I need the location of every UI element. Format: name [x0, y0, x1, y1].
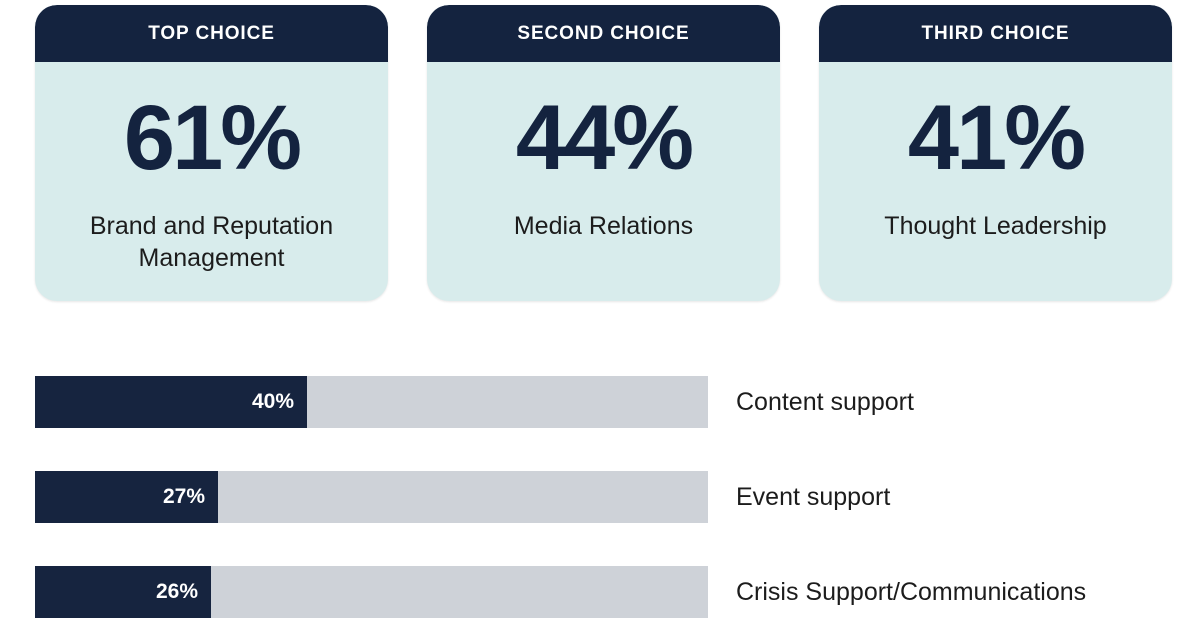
- bar-row: 27% Event support: [35, 471, 1175, 523]
- bar-category-label: Content support: [736, 388, 914, 417]
- stat-card-second-choice: SECOND CHOICE 44% Media Relations: [427, 5, 780, 301]
- bar-value-label: 27%: [163, 485, 205, 509]
- stat-card-third-choice: THIRD CHOICE 41% Thought Leadership: [819, 5, 1172, 301]
- stat-card-body: 41% Thought Leadership: [819, 62, 1172, 301]
- stat-cards-row: TOP CHOICE 61% Brand and Reputation Mana…: [35, 5, 1172, 301]
- bar-track: 26%: [35, 566, 708, 618]
- bar-value-label: 26%: [156, 580, 198, 604]
- bar-fill: 27%: [35, 471, 218, 523]
- stat-card-header: THIRD CHOICE: [819, 5, 1172, 62]
- stat-card-header: SECOND CHOICE: [427, 5, 780, 62]
- stat-card-body: 61% Brand and Reputation Management: [35, 62, 388, 301]
- stat-card-value: 44%: [516, 92, 691, 184]
- bar-row: 40% Content support: [35, 376, 1175, 428]
- bar-track: 40%: [35, 376, 708, 428]
- stat-card-rank-label: TOP CHOICE: [148, 23, 275, 45]
- bar-row: 26% Crisis Support/Communications: [35, 566, 1175, 618]
- bar-value-label: 40%: [252, 390, 294, 414]
- bar-category-label: Crisis Support/Communications: [736, 578, 1086, 607]
- stat-card-body: 44% Media Relations: [427, 62, 780, 301]
- stat-card-rank-label: THIRD CHOICE: [921, 23, 1069, 45]
- stat-card-top-choice: TOP CHOICE 61% Brand and Reputation Mana…: [35, 5, 388, 301]
- bar-fill: 40%: [35, 376, 307, 428]
- stat-card-caption: Brand and Reputation Management: [51, 210, 372, 274]
- stat-card-rank-label: SECOND CHOICE: [517, 23, 689, 45]
- stat-card-value: 41%: [908, 92, 1083, 184]
- stat-card-header: TOP CHOICE: [35, 5, 388, 62]
- bar-chart: 40% Content support 27% Event support 26…: [35, 376, 1175, 618]
- bar-fill: 26%: [35, 566, 211, 618]
- bar-category-label: Event support: [736, 483, 890, 512]
- bar-track: 27%: [35, 471, 708, 523]
- stat-card-value: 61%: [124, 92, 299, 184]
- stat-card-caption: Media Relations: [514, 210, 693, 242]
- stat-card-caption: Thought Leadership: [884, 210, 1106, 242]
